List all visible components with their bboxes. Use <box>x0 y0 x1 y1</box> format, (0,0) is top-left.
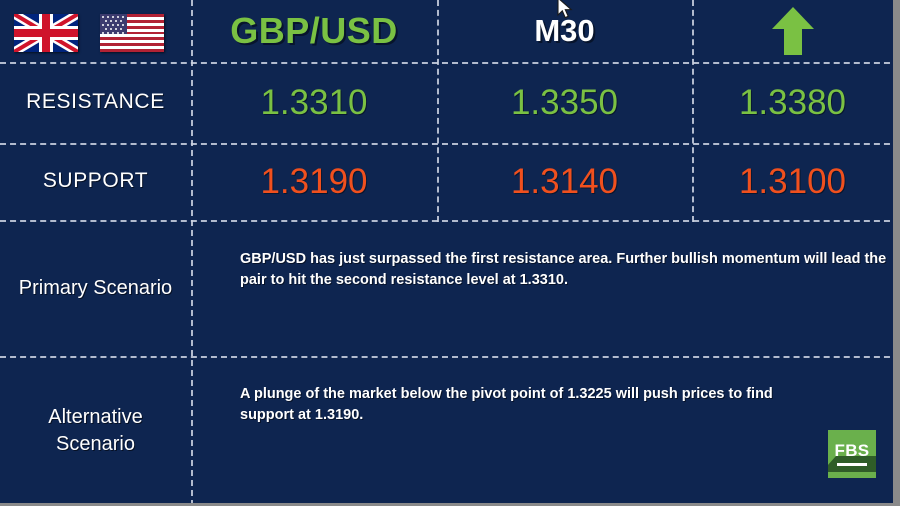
support-value-1-cell: 1.3190 <box>191 143 437 220</box>
primary-scenario-text: GBP/USD has just surpassed the first res… <box>240 249 890 291</box>
resistance-label: RESISTANCE <box>26 89 165 115</box>
currency-pair-cell: GBP/USD <box>191 0 437 62</box>
support-value-3-cell: 1.3100 <box>692 143 893 220</box>
support-value-3: 1.3100 <box>739 162 846 202</box>
primary-scenario-label-cell: Primary Scenario <box>0 220 191 356</box>
resistance-row-label-cell: RESISTANCE <box>0 62 191 143</box>
resistance-value-2: 1.3350 <box>511 83 618 123</box>
mouse-cursor-icon <box>556 0 576 22</box>
currency-pair-title: GBP/USD <box>230 10 398 52</box>
resistance-value-3-cell: 1.3380 <box>692 62 893 143</box>
fbs-logo-underline <box>837 463 867 466</box>
support-value-2: 1.3140 <box>511 162 618 202</box>
trend-cell <box>692 0 893 62</box>
resistance-value-1: 1.3310 <box>260 83 367 123</box>
uk-flag-icon <box>14 14 78 52</box>
forex-signal-card: GBP/USD M30 RESISTANCE 1.3310 1.3350 1.3… <box>0 0 900 506</box>
resistance-value-1-cell: 1.3310 <box>191 62 437 143</box>
currency-flags <box>14 14 164 52</box>
resistance-value-2-cell: 1.3350 <box>437 62 692 143</box>
support-value-1: 1.3190 <box>260 162 367 202</box>
support-value-2-cell: 1.3140 <box>437 143 692 220</box>
support-label: SUPPORT <box>43 168 148 194</box>
resistance-value-3: 1.3380 <box>739 83 846 123</box>
alternative-scenario-text: A plunge of the market below the pivot p… <box>240 384 820 426</box>
alternative-scenario-label-line2: Scenario <box>56 431 135 458</box>
alternative-scenario-label-cell: Alternative Scenario <box>0 356 191 506</box>
us-flag-icon <box>100 14 164 52</box>
primary-scenario-label: Primary Scenario <box>19 275 172 302</box>
fbs-logo: FBS <box>828 430 876 478</box>
alternative-scenario-label-line1: Alternative <box>48 404 143 431</box>
fbs-logo-text: FBS <box>828 441 876 461</box>
support-row-label-cell: SUPPORT <box>0 143 191 220</box>
